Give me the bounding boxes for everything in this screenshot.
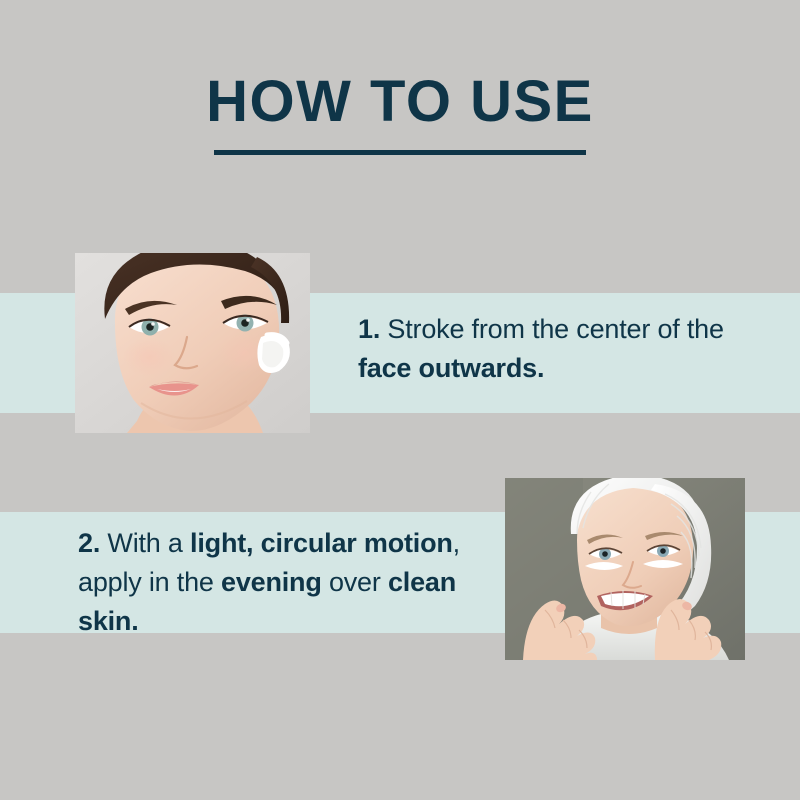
step-2-fragment-3: evening [221, 567, 322, 597]
step-2-body: With a light, circular motion, apply in … [78, 528, 460, 636]
step-2-fragment-4: over [322, 567, 388, 597]
step-2-fragment-1: light, circular motion [190, 528, 453, 558]
step-2-image [505, 478, 745, 660]
step-2-fragment-0: With a [100, 528, 190, 558]
woman-with-towel-turban-applying-cream-illustration [505, 478, 745, 660]
step-1-fragment-0: Stroke from the center of the [380, 314, 724, 344]
step-1-text: 1. Stroke from the center of the face ou… [358, 310, 758, 388]
title-underline-divider [214, 150, 586, 155]
step-1-image [75, 253, 310, 433]
step-1-body: Stroke from the center of the face outwa… [358, 314, 724, 383]
infographic-canvas: HOW TO USE [0, 0, 800, 800]
step-1-fragment-1: face outwards. [358, 353, 544, 383]
woman-applying-cream-to-cheek-illustration [75, 253, 310, 433]
page-title: HOW TO USE [0, 70, 800, 134]
step-1-number: 1. [358, 314, 380, 344]
step-2-number: 2. [78, 528, 100, 558]
step-2-text: 2. With a light, circular motion, apply … [78, 524, 510, 641]
